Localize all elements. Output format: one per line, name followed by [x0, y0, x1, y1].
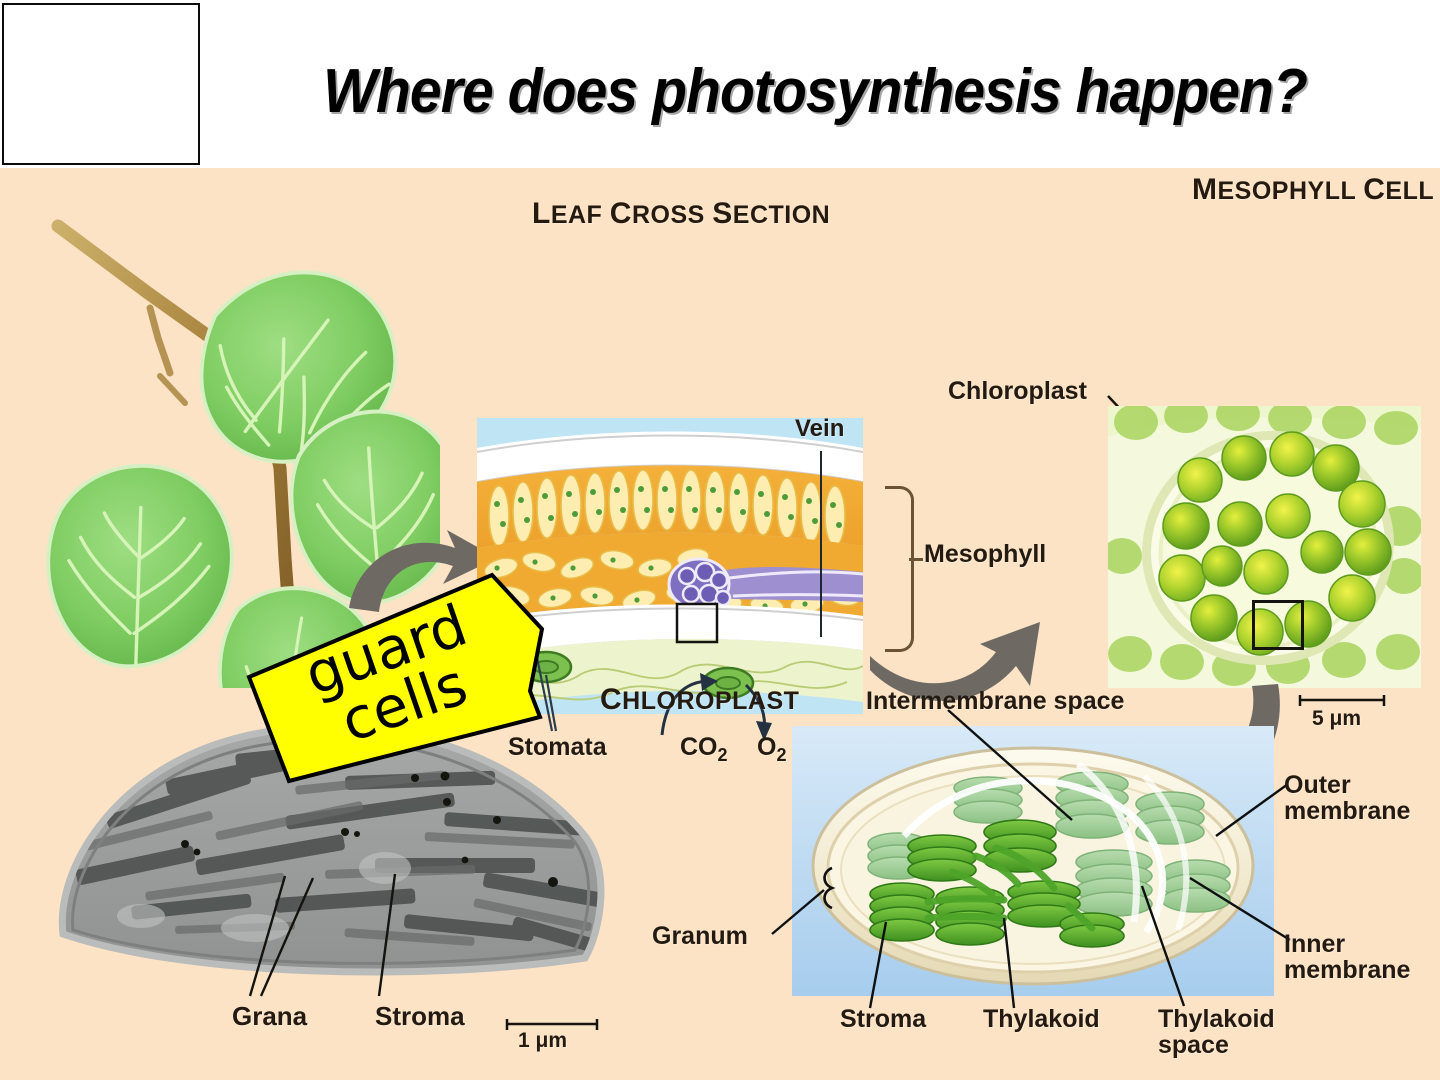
leaf-label-vein: Vein [795, 416, 844, 441]
chloroplast-leader-lines [760, 708, 1320, 1028]
mesophyll-inspection-square [1252, 600, 1304, 650]
leaf-label-co2: CO2 [680, 734, 728, 765]
title-bar: Where does photosynthesis happen? [0, 0, 1440, 168]
chloroplast-label-inner-membrane: Inner membrane [1284, 931, 1410, 984]
co2-subscript: 2 [718, 745, 728, 765]
chloroplast-label-thylakoid: Thylakoid [983, 1006, 1100, 1032]
mesophyll-label-chloroplast: Chloroplast [948, 378, 1087, 404]
tem-label-stroma: Stroma [375, 1003, 465, 1030]
figure-panel: LEAF CROSS SECTION [0, 168, 1440, 1080]
mesophyll-bracket-nub [909, 558, 923, 561]
corner-placeholder-box [2, 3, 200, 165]
tem-label-grana: Grana [232, 1003, 307, 1030]
mesophyll-cell-heading: MESOPHYLL CELL [1192, 174, 1434, 206]
tem-leader-lines [225, 868, 545, 1013]
chloroplast-label-thylakoid-space: Thylakoid space [1158, 1006, 1275, 1059]
leaf-cross-section-heading: LEAF CROSS SECTION [532, 198, 830, 230]
slide-root: Where does photosynthesis happen? [0, 0, 1440, 1080]
chloroplast-label-stroma: Stroma [840, 1006, 926, 1032]
vein-leader-line [820, 451, 822, 637]
guard-cells-callout[interactable]: guard cells [243, 569, 548, 787]
co2-text: CO [680, 733, 718, 761]
chloroplast-label-intermembrane-space: Intermembrane space [866, 688, 1124, 714]
leaf-label-mesophyll: Mesophyll [924, 541, 1046, 567]
scale-bar-1um-label: 1 μm [518, 1030, 567, 1052]
page-title: Where does photosynthesis happen? [258, 36, 1371, 146]
chloroplast-label-granum: Granum [652, 923, 748, 949]
chloroplast-label-outer-membrane: Outer membrane [1284, 772, 1410, 825]
